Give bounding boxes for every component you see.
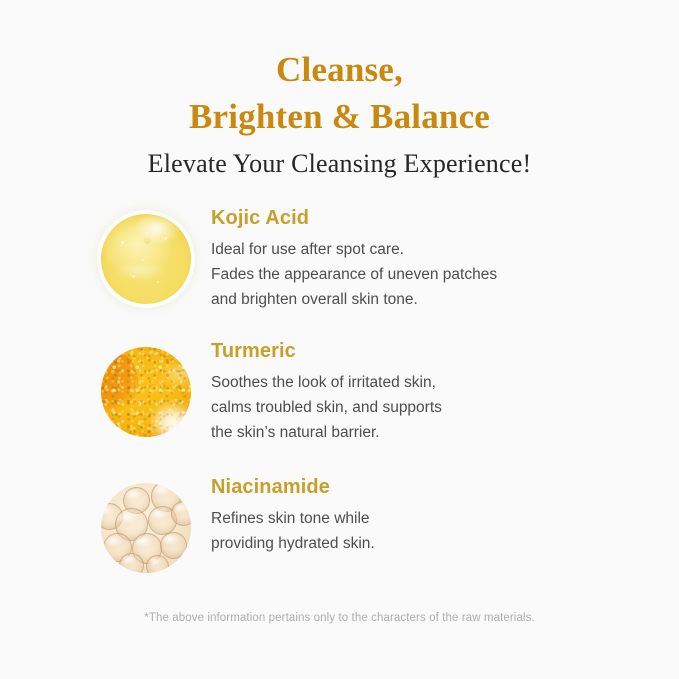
- powder-scatter-highlight: [150, 399, 190, 435]
- list-item: Kojic Acid Ideal for use after spot care…: [0, 201, 679, 321]
- niacinamide-bubbles-swatch: [101, 483, 191, 573]
- gel-speck-icon: [121, 241, 124, 244]
- gel-speck-icon: [132, 275, 135, 278]
- title-line-2: Brighten & Balance: [0, 94, 679, 141]
- title-line-1: Cleanse,: [0, 47, 679, 94]
- bubble-icon: [146, 555, 169, 573]
- ingredient-description: Soothes the look of irritated skin, calm…: [211, 370, 442, 445]
- turmeric-powder-swatch: [101, 347, 191, 437]
- bubble-icon: [160, 532, 187, 559]
- gel-speck-icon: [164, 237, 167, 240]
- gel-sheen-highlight: [114, 261, 166, 281]
- page-title: Cleanse, Brighten & Balance: [0, 47, 679, 140]
- gel-speck-icon: [157, 281, 160, 284]
- niacinamide-bubbles-icon: [101, 483, 191, 573]
- header: Cleanse, Brighten & Balance Elevate Your…: [0, 0, 679, 179]
- description-line: Refines skin tone while: [211, 506, 375, 531]
- gel-bead-highlight: [144, 232, 151, 244]
- bubble-icon: [171, 501, 191, 526]
- ingredient-description: Ideal for use after spot care. Fades the…: [211, 237, 497, 312]
- ingredient-name: Kojic Acid: [211, 207, 497, 230]
- ingredient-copy: Kojic Acid Ideal for use after spot care…: [191, 201, 497, 312]
- list-item: Turmeric Soothes the look of irritated s…: [0, 334, 679, 454]
- gel-droplet-icon: [101, 214, 191, 304]
- list-item: Niacinamide Refines skin tone while prov…: [0, 470, 679, 590]
- footnote-disclaimer: *The above information pertains only to …: [0, 612, 679, 624]
- page-subtitle: Elevate Your Cleansing Experience!: [0, 149, 679, 179]
- description-line: Ideal for use after spot care.: [211, 237, 497, 262]
- description-line: calms troubled skin, and supports: [211, 395, 442, 420]
- ingredient-description: Refines skin tone while providing hydrat…: [211, 506, 375, 556]
- kojic-acid-gel-swatch: [101, 214, 191, 304]
- ingredient-name: Niacinamide: [211, 476, 375, 499]
- bubble-icon: [119, 553, 144, 573]
- ingredient-benefits-infographic: Cleanse, Brighten & Balance Elevate Your…: [0, 0, 679, 679]
- ingredient-copy: Turmeric Soothes the look of irritated s…: [191, 334, 442, 445]
- description-line: Fades the appearance of uneven patches: [211, 262, 497, 287]
- description-line: Soothes the look of irritated skin,: [211, 370, 442, 395]
- turmeric-powder-icon: [101, 347, 191, 437]
- description-line: the skin’s natural barrier.: [211, 420, 442, 445]
- ingredient-list: Kojic Acid Ideal for use after spot care…: [0, 201, 679, 590]
- ingredient-copy: Niacinamide Refines skin tone while prov…: [191, 470, 375, 556]
- ingredient-name: Turmeric: [211, 340, 442, 363]
- description-line: and brighten overall skin tone.: [211, 287, 497, 312]
- description-line: providing hydrated skin.: [211, 531, 375, 556]
